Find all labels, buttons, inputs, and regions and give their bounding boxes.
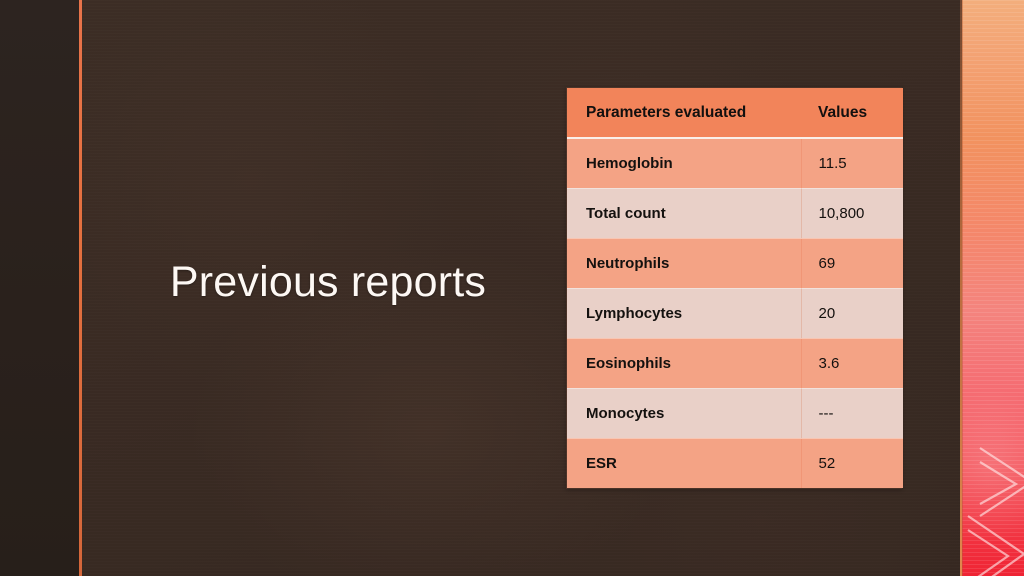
- cell-parameter-esr: ESR: [567, 438, 801, 488]
- table-row: Lymphocytes 20: [567, 288, 903, 338]
- cell-parameter-monocytes: Monocytes: [567, 388, 801, 438]
- chevron-icon-upper: [976, 444, 1024, 522]
- cell-parameter-total-count: Total count: [567, 188, 801, 238]
- slide-canvas: Previous reports Parameters evaluated Va…: [0, 0, 1024, 576]
- table-row: ESR 52: [567, 438, 903, 488]
- table-row: Eosinophils 3.6: [567, 338, 903, 388]
- band-left-edge: [962, 0, 963, 576]
- left-dark-strip: [0, 0, 79, 576]
- cell-value-hemoglobin: 11.5: [801, 138, 903, 188]
- column-header-parameters: Parameters evaluated: [567, 88, 801, 138]
- lab-results-table: Parameters evaluated Values Hemoglobin 1…: [567, 88, 903, 488]
- page-title: Previous reports: [118, 258, 538, 307]
- table-row: Neutrophils 69: [567, 238, 903, 288]
- cell-value-neutrophils: 69: [801, 238, 903, 288]
- cell-value-total-count: 10,800: [801, 188, 903, 238]
- cell-parameter-lymphocytes: Lymphocytes: [567, 288, 801, 338]
- table-header: Parameters evaluated Values: [567, 88, 903, 138]
- cell-parameter-neutrophils: Neutrophils: [567, 238, 801, 288]
- chevron-icon-lower: [966, 514, 1024, 576]
- cell-value-eosinophils: 3.6: [801, 338, 903, 388]
- column-header-values: Values: [801, 88, 903, 138]
- table-row: Hemoglobin 11.5: [567, 138, 903, 188]
- right-gradient-band: [962, 0, 1024, 576]
- previous-reports-table: Parameters evaluated Values Hemoglobin 1…: [566, 87, 902, 489]
- table-row: Monocytes ---: [567, 388, 903, 438]
- table-header-row: Parameters evaluated Values: [567, 88, 903, 138]
- table-row: Total count 10,800: [567, 188, 903, 238]
- cell-value-monocytes: ---: [801, 388, 903, 438]
- cell-value-lymphocytes: 20: [801, 288, 903, 338]
- left-accent-rule: [79, 0, 82, 576]
- cell-parameter-eosinophils: Eosinophils: [567, 338, 801, 388]
- cell-parameter-hemoglobin: Hemoglobin: [567, 138, 801, 188]
- cell-value-esr: 52: [801, 438, 903, 488]
- table-body: Hemoglobin 11.5 Total count 10,800 Neutr…: [567, 138, 903, 488]
